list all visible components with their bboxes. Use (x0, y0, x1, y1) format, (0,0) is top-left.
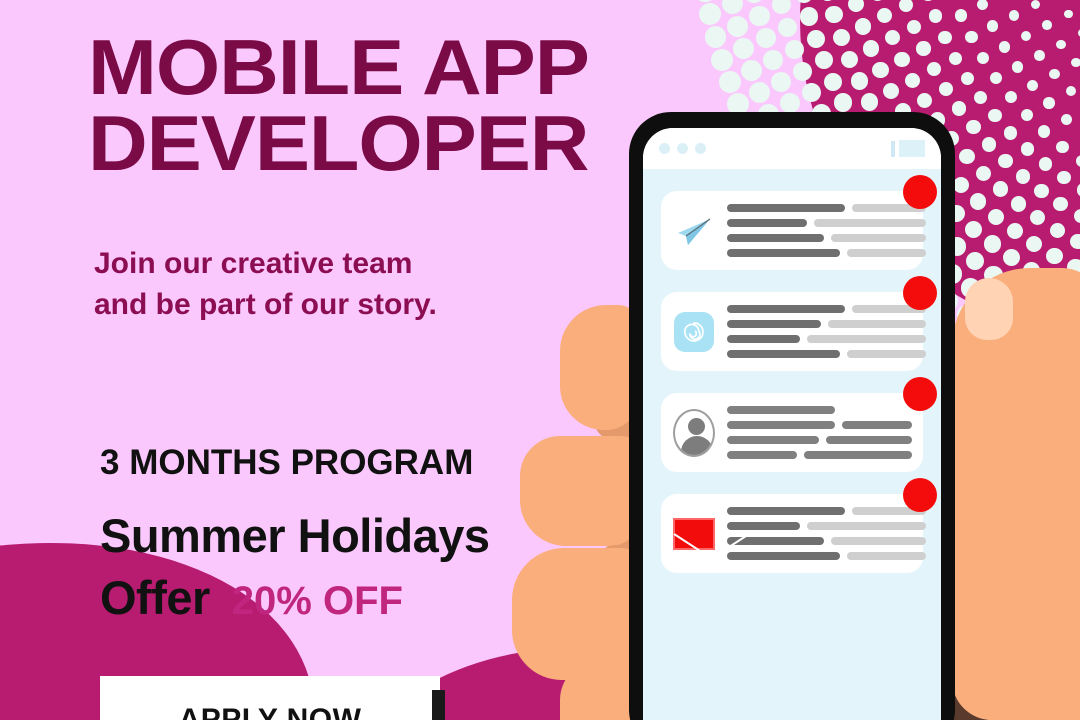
notification-card[interactable] (661, 393, 923, 472)
avatar-icon (673, 409, 715, 457)
notification-list (643, 169, 941, 573)
placeholder-bar (826, 436, 912, 444)
placeholder-bar (727, 406, 835, 414)
spiral-tile-icon (673, 311, 715, 353)
placeholder-line (727, 219, 926, 227)
page-title: MOBILE APP DEVELOPER (88, 30, 682, 181)
placeholder-line (727, 522, 926, 530)
placeholder-bar (804, 451, 912, 459)
notification-card[interactable] (661, 292, 923, 371)
notification-badge[interactable] (903, 276, 937, 310)
placeholder-line (727, 406, 912, 414)
placeholder-line (727, 507, 926, 515)
battery-tick (891, 141, 895, 157)
placeholder-bar (828, 320, 926, 328)
placeholder-bar (727, 451, 797, 459)
placeholder-line (727, 249, 926, 257)
placeholder-line (727, 350, 926, 358)
placeholder-line (727, 451, 912, 459)
placeholder-bar (847, 249, 926, 257)
spiral-tile-icon (674, 312, 714, 352)
thumb (952, 268, 1080, 720)
offer-word: Offer (100, 570, 210, 625)
placeholder-bar (807, 522, 926, 530)
notification-badge[interactable] (903, 175, 937, 209)
placeholder-line (727, 421, 912, 429)
placeholder-bar (727, 234, 824, 242)
notification-card[interactable] (661, 191, 923, 270)
placeholder-bar (847, 350, 926, 358)
finger-1 (560, 305, 640, 430)
discount-badge: 20% OFF (232, 579, 403, 624)
placeholder-bar (847, 552, 926, 560)
status-bar (643, 128, 941, 169)
paper-plane-icon (673, 210, 715, 252)
phone-screen (643, 128, 941, 720)
envelope-icon (673, 513, 715, 555)
subtitle-text: Join our creative team and be part of ou… (94, 243, 564, 326)
program-label: 3 MONTHS PROGRAM (100, 443, 473, 483)
avatar-icon (673, 412, 715, 454)
placeholder-bar (831, 537, 926, 545)
finger-2 (520, 436, 640, 546)
thumb-nail (965, 278, 1013, 340)
placeholder-bar (727, 335, 800, 343)
placeholder-line (727, 552, 926, 560)
smartphone-mockup (629, 112, 955, 720)
paper-plane-icon (674, 211, 714, 251)
placeholder-line (727, 234, 926, 242)
placeholder-bar (807, 335, 926, 343)
status-dot-3 (695, 143, 706, 154)
placeholder-bar (814, 219, 926, 227)
apply-now-button[interactable]: APPLY NOW (100, 676, 440, 720)
placeholder-bar (727, 552, 840, 560)
notification-card[interactable] (661, 494, 923, 573)
battery-icon (891, 140, 925, 157)
placeholder-line (727, 305, 926, 313)
placeholder-line (727, 204, 926, 212)
placeholder-text-lines (727, 507, 926, 560)
placeholder-line (727, 335, 926, 343)
apply-button-accent-bar (432, 690, 445, 720)
placeholder-bar (831, 234, 926, 242)
placeholder-bar (727, 507, 845, 515)
placeholder-line (727, 537, 926, 545)
placeholder-bar (727, 421, 835, 429)
avatar-head (688, 418, 705, 435)
notification-badge[interactable] (903, 478, 937, 512)
placeholder-line (727, 436, 912, 444)
envelope-icon (673, 518, 715, 550)
poster-canvas: MOBILE APP DEVELOPER Join our creative t… (0, 0, 1080, 720)
placeholder-text-lines (727, 305, 926, 358)
placeholder-bar (727, 219, 807, 227)
avatar-body (681, 436, 713, 457)
battery-body (899, 140, 925, 157)
offer-headline: Summer Holidays (100, 508, 490, 563)
placeholder-bar (727, 436, 819, 444)
placeholder-bar (727, 204, 845, 212)
placeholder-line (727, 320, 926, 328)
placeholder-text-lines (727, 204, 926, 257)
placeholder-bar (727, 522, 800, 530)
offer-second-line: Offer 20% OFF (100, 570, 403, 625)
notification-badge[interactable] (903, 377, 937, 411)
placeholder-text-lines (727, 406, 912, 459)
placeholder-bar (727, 350, 840, 358)
placeholder-bar (727, 249, 840, 257)
placeholder-bar (727, 320, 821, 328)
placeholder-bar (727, 305, 845, 313)
placeholder-bar (842, 421, 912, 429)
